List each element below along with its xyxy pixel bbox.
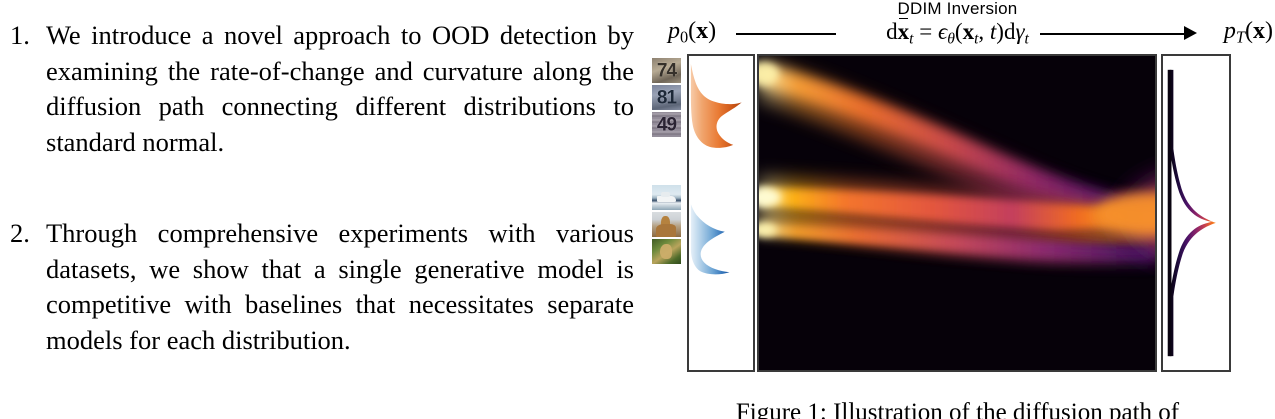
target-distribution-label: pT(x) bbox=[1224, 18, 1273, 48]
thumbnail-cifar-ship bbox=[652, 185, 681, 210]
list-item-text: We introduce a novel approach to OOD det… bbox=[46, 18, 634, 160]
thumbnail-svhn-74: 74 bbox=[652, 58, 681, 83]
pT-density-plot bbox=[1163, 56, 1229, 370]
panel-pT-density bbox=[1161, 54, 1231, 372]
list-item-number: 1. bbox=[4, 18, 46, 160]
dog-body-shape bbox=[656, 224, 676, 237]
right-arrow-icon bbox=[1184, 26, 1197, 40]
standard-normal-curve bbox=[1170, 70, 1216, 356]
trajectory-heatmap bbox=[759, 56, 1155, 370]
panel-trajectory-heatmap bbox=[757, 54, 1157, 372]
thumbnail-label: 49 bbox=[652, 115, 681, 134]
cifar-density-curve bbox=[691, 204, 730, 274]
p0-density-plot bbox=[689, 56, 753, 370]
ship-cabin-shape bbox=[661, 192, 670, 197]
sample-thumbnails: 74 81 49 bbox=[652, 52, 682, 372]
flow-line-right bbox=[1040, 33, 1186, 35]
figure-diffusion-path: DDIM Inversion p0(x) dxt = ϵθ(xt, t)dγt … bbox=[640, 0, 1275, 419]
list-item-text: Through comprehensive experiments with v… bbox=[46, 216, 634, 358]
list-item-number: 2. bbox=[4, 216, 46, 358]
thumbnail-cifar-dog bbox=[652, 212, 681, 237]
panel-p0-density bbox=[687, 54, 755, 372]
svhn-density-curve bbox=[691, 64, 742, 148]
contributions-list: 1. We introduce a novel approach to OOD … bbox=[0, 0, 640, 419]
list-item: 1. We introduce a novel approach to OOD … bbox=[4, 18, 634, 160]
list-item: 2. Through comprehensive experiments wit… bbox=[4, 216, 634, 358]
thumbnail-label: 74 bbox=[652, 61, 681, 80]
deer-body-shape bbox=[660, 244, 672, 259]
figure-caption: Figure 1: Illustration of the diffusion … bbox=[640, 398, 1275, 419]
thumbnail-label: 81 bbox=[652, 88, 681, 107]
thumbnail-cifar-deer bbox=[652, 239, 681, 264]
thumbnail-svhn-81: 81 bbox=[652, 85, 681, 110]
ddim-inversion-label: DDIM Inversion bbox=[640, 0, 1275, 19]
thumbnail-svhn-49: 49 bbox=[652, 112, 681, 137]
figure-header: DDIM Inversion p0(x) dxt = ϵθ(xt, t)dγt … bbox=[640, 0, 1275, 50]
